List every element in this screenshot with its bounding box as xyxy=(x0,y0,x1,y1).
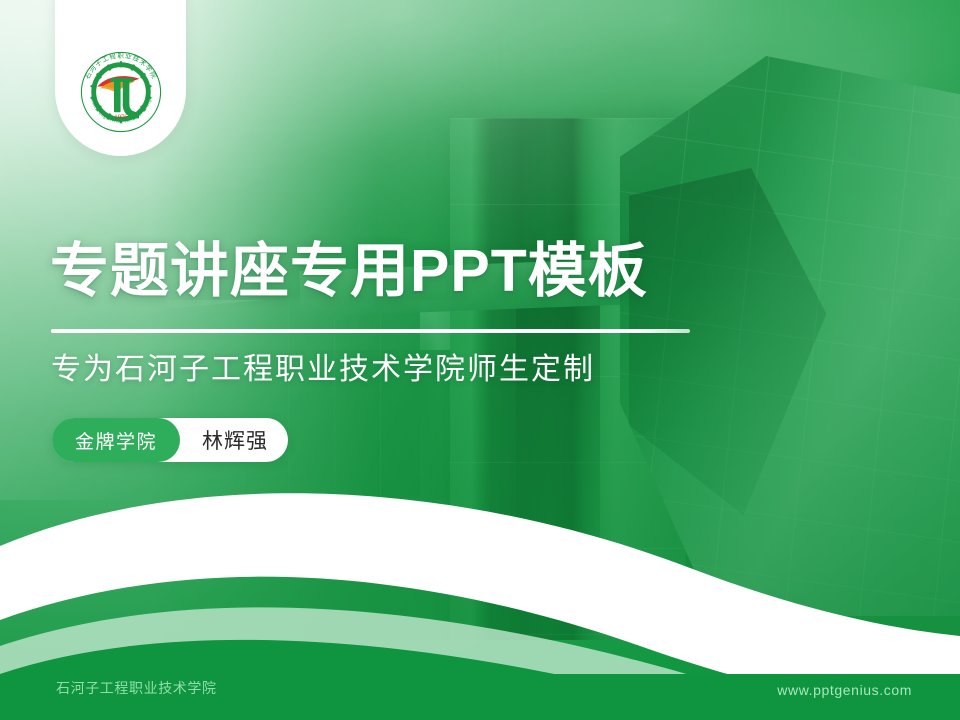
footer-website-url[interactable]: www.pptgenius.com xyxy=(777,682,912,698)
presenter-badge: 金牌学院 林辉强 xyxy=(52,418,288,462)
ppt-title-slide: 石河子工程职业技术学院 www.pptgenius.com xyxy=(0,0,960,720)
footer-bar: 石河子工程职业技术学院 www.pptgenius.com xyxy=(0,642,960,720)
slide-title: 专题讲座专用PPT模板 xyxy=(50,241,648,302)
footer-institution-name: 石河子工程职业技术学院 xyxy=(56,678,217,698)
slide-subtitle: 专为石河子工程职业技术学院师生定制 xyxy=(51,350,595,389)
badge-tag-label: 金牌学院 xyxy=(52,418,180,462)
logo-tab-panel: 1976 石河子工程职业技术学院 Shihezi Engineering Tec… xyxy=(55,0,186,156)
college-emblem-icon: 1976 石河子工程职业技术学院 Shihezi Engineering Tec… xyxy=(77,48,165,136)
badge-presenter-name: 林辉强 xyxy=(180,425,268,455)
title-divider-line xyxy=(51,329,690,333)
